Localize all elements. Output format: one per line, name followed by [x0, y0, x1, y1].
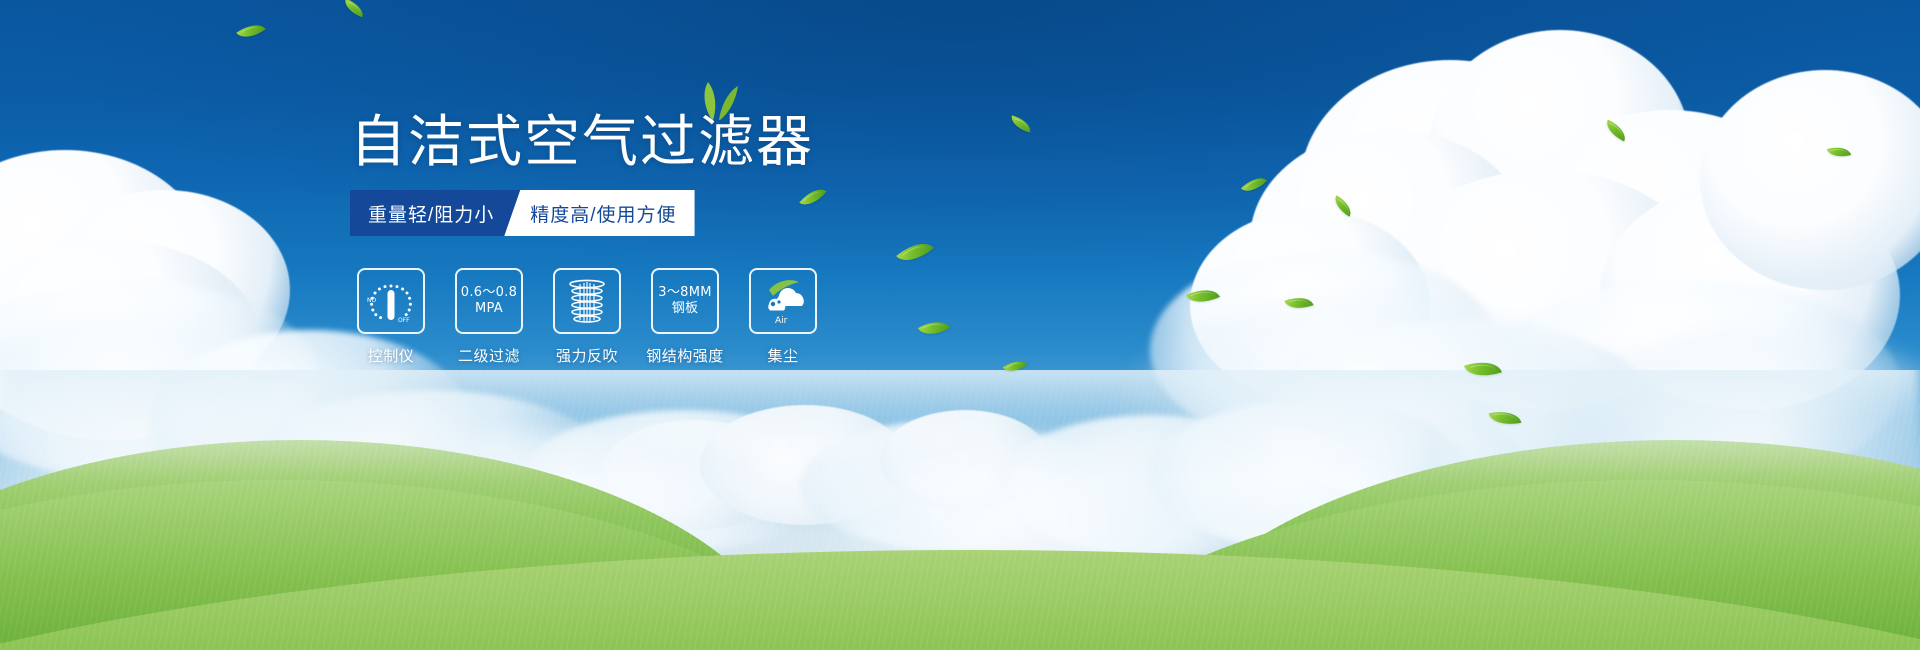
- feature-label: 强力反吹: [556, 345, 618, 366]
- dial-gauge-icon: NO OFF: [365, 276, 417, 326]
- badge-group: 重量轻/阻力小 精度高/使用方便: [350, 190, 695, 236]
- air-label: Air: [775, 316, 788, 326]
- title-block: 自洁式空气过滤器: [350, 112, 814, 174]
- feature-label: 钢结构强度: [646, 345, 724, 366]
- feature-icon-box: 0.6〜0.8 MPA: [455, 268, 523, 334]
- feature-list: NO OFF 控制仪 0.6〜0.8 MPA 二级过滤: [356, 268, 818, 366]
- feature-item-two-stage-filter: 0.6〜0.8 MPA 二级过滤: [454, 268, 524, 366]
- feature-icon-box: Air: [749, 268, 817, 334]
- badge-primary-label: 重量轻/阻力小: [368, 200, 494, 227]
- pressure-value-line2: MPA: [475, 301, 503, 317]
- hero-banner: 自洁式空气过滤器 重量轻/阻力小 精度高/使用方便: [0, 0, 1920, 650]
- badge-precision-convenience: 精度高/使用方便: [504, 190, 694, 236]
- feature-item-dust-collection: Air 集尘: [748, 268, 818, 366]
- feature-item-controller: NO OFF 控制仪: [356, 268, 426, 366]
- filter-cartridge-icon: [563, 276, 611, 326]
- cloud-air-icon: Air: [757, 276, 809, 326]
- badge-secondary-label: 精度高/使用方便: [530, 200, 676, 227]
- dial-mark-no: NO: [367, 297, 376, 304]
- steel-value-line2: 钢板: [672, 301, 699, 317]
- page-title: 自洁式空气过滤器: [350, 112, 814, 174]
- feature-icon-box: [553, 268, 621, 334]
- dial-mark-off: OFF: [398, 317, 410, 324]
- feature-icon-box: NO OFF: [357, 268, 425, 334]
- pressure-value-line1: 0.6〜0.8: [461, 285, 517, 301]
- feature-icon-box: 3〜8MM 钢板: [651, 268, 719, 334]
- badge-weight-resistance: 重量轻/阻力小: [350, 190, 520, 236]
- feature-label: 二级过滤: [458, 345, 520, 366]
- feature-label: 集尘: [767, 345, 798, 366]
- banner-content: 自洁式空气过滤器 重量轻/阻力小 精度高/使用方便: [0, 0, 1920, 650]
- feature-item-steel-strength: 3〜8MM 钢板 钢结构强度: [650, 268, 720, 366]
- sprout-leaves-icon: [686, 80, 746, 120]
- feature-label: 控制仪: [368, 345, 415, 366]
- steel-value-line1: 3〜8MM: [658, 285, 711, 301]
- feature-item-reverse-blow: 强力反吹: [552, 268, 622, 366]
